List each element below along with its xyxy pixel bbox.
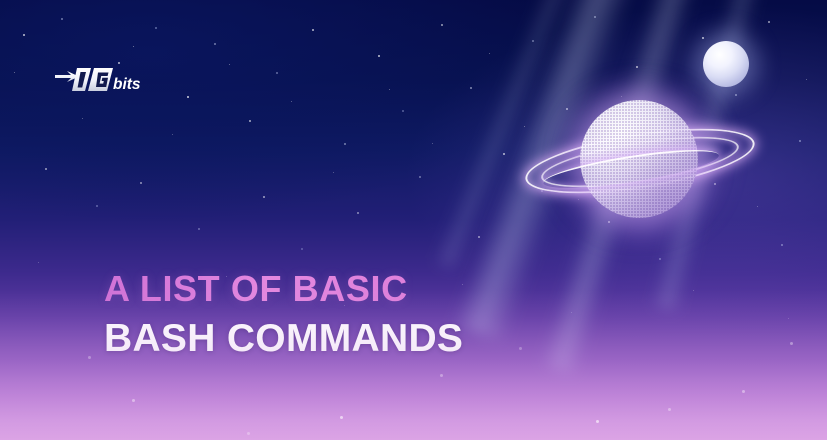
starfield-bright (0, 0, 3, 3)
1gbits-logo-icon: bits (55, 62, 147, 96)
starfield (0, 0, 2, 2)
page-title: A LIST OF BASIC BASH COMMANDS (104, 271, 463, 358)
brand-logo[interactable]: bits (55, 62, 147, 96)
small-moon (703, 41, 749, 87)
starfield-small (0, 0, 1, 1)
title-line-2: BASH COMMANDS (104, 319, 463, 358)
svg-text:bits: bits (113, 76, 141, 93)
ringed-planet (520, 86, 760, 226)
title-line-1: A LIST OF BASIC (104, 271, 463, 307)
bash-commands-banner: bits A LIST OF BASIC BASH COMMANDS (0, 0, 827, 440)
